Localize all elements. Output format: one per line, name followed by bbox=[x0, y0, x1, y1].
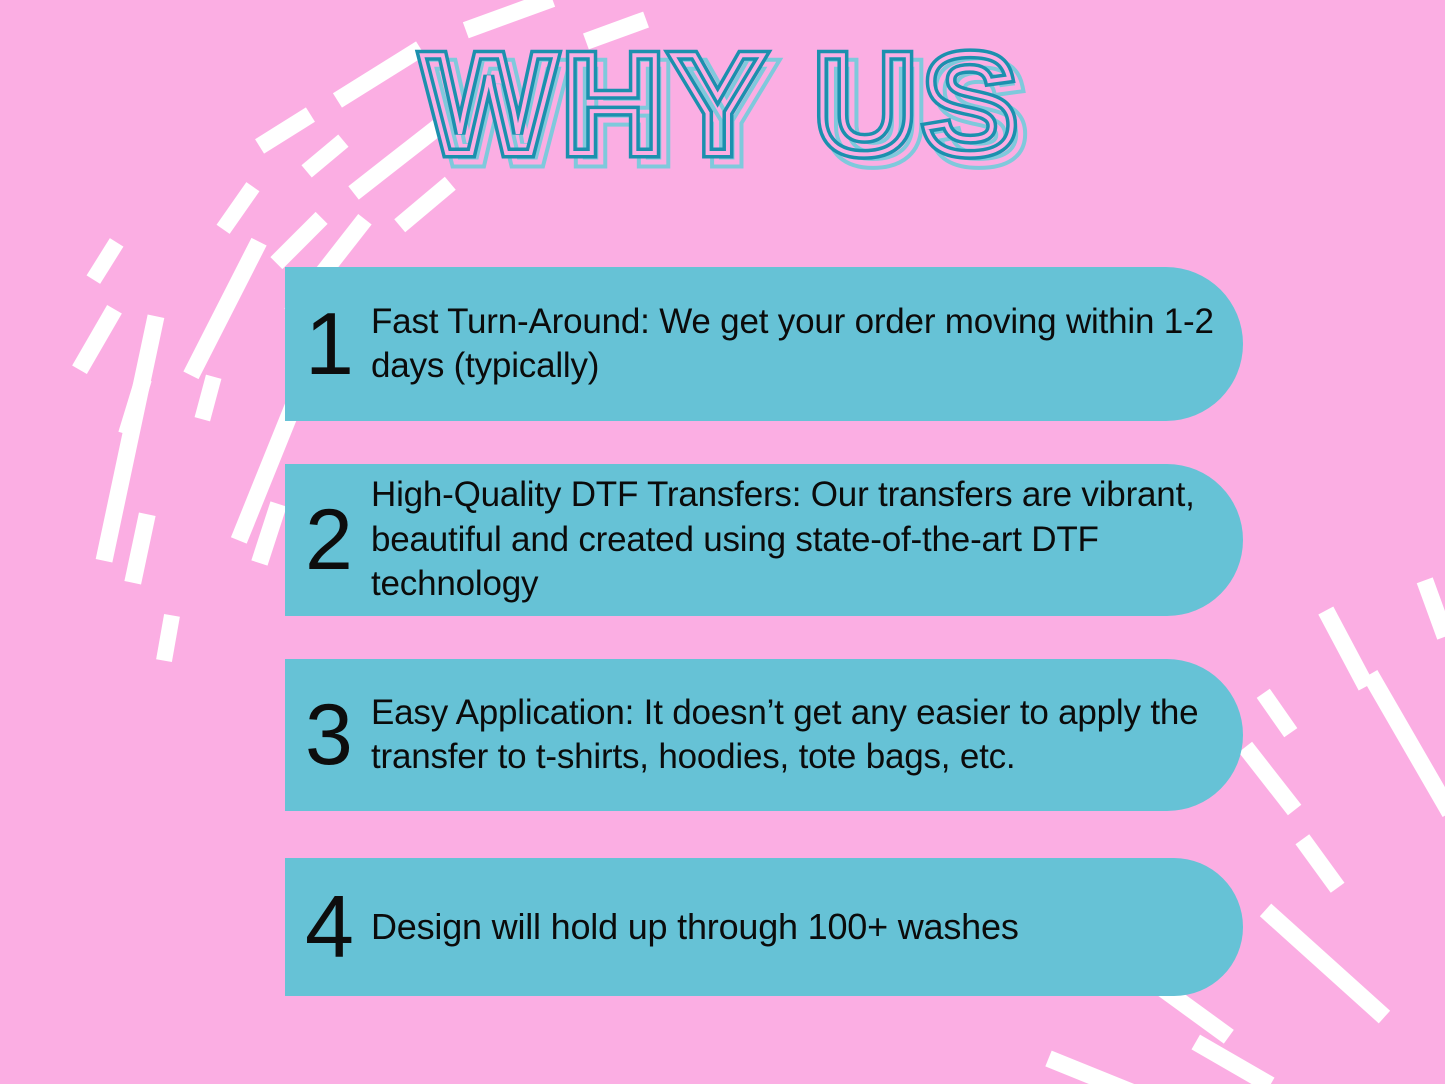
benefit-number-1: 1 bbox=[285, 300, 371, 388]
benefit-number-4: 4 bbox=[285, 883, 371, 971]
decorative-dash bbox=[251, 501, 286, 565]
decorative-dash bbox=[72, 305, 122, 374]
decorative-dash bbox=[124, 512, 155, 584]
decorative-dash bbox=[87, 238, 124, 284]
decorative-dash bbox=[270, 212, 327, 269]
benefit-text-3: Easy Application: It doesn’t get any eas… bbox=[371, 691, 1243, 780]
decorative-dash bbox=[1257, 689, 1298, 737]
decorative-dash bbox=[118, 376, 151, 436]
benefit-text-1: Fast Turn-Around: We get your order movi… bbox=[371, 300, 1243, 389]
benefit-number-3: 3 bbox=[285, 692, 371, 778]
decorative-dash bbox=[1192, 1035, 1275, 1084]
decorative-dash bbox=[1260, 904, 1390, 1024]
poster-canvas: WHY US WHY US WHY US WHY US WHY US 1 Fas… bbox=[0, 0, 1445, 1084]
decorative-dash bbox=[1318, 607, 1373, 691]
benefit-text-2: High-Quality DTF Transfers: Our transfer… bbox=[371, 473, 1243, 606]
decorative-dash bbox=[1239, 742, 1302, 816]
title-stack: WHY US WHY US WHY US WHY US WHY US bbox=[422, 34, 1023, 176]
benefit-text-4: Design will hold up through 100+ washes bbox=[371, 904, 1045, 950]
decorative-dash bbox=[156, 614, 180, 662]
decorative-dash bbox=[1295, 834, 1344, 893]
benefit-card-2: 2 High-Quality DTF Transfers: Our transf… bbox=[285, 464, 1243, 616]
benefit-card-3: 3 Easy Application: It doesn’t get any e… bbox=[285, 659, 1243, 811]
decorative-dash bbox=[1363, 670, 1445, 817]
page-title: WHY US WHY US WHY US WHY US WHY US bbox=[0, 34, 1445, 194]
title-inner-layer: WHY US bbox=[422, 34, 1023, 176]
decorative-dash bbox=[1045, 1051, 1140, 1084]
benefit-card-4: 4 Design will hold up through 100+ washe… bbox=[285, 858, 1243, 996]
decorative-dash bbox=[96, 314, 165, 562]
decorative-dash bbox=[183, 238, 266, 379]
decorative-dash bbox=[1417, 577, 1445, 639]
benefit-number-2: 2 bbox=[285, 497, 371, 583]
benefit-card-1: 1 Fast Turn-Around: We get your order mo… bbox=[285, 267, 1243, 421]
decorative-dash bbox=[195, 375, 222, 422]
